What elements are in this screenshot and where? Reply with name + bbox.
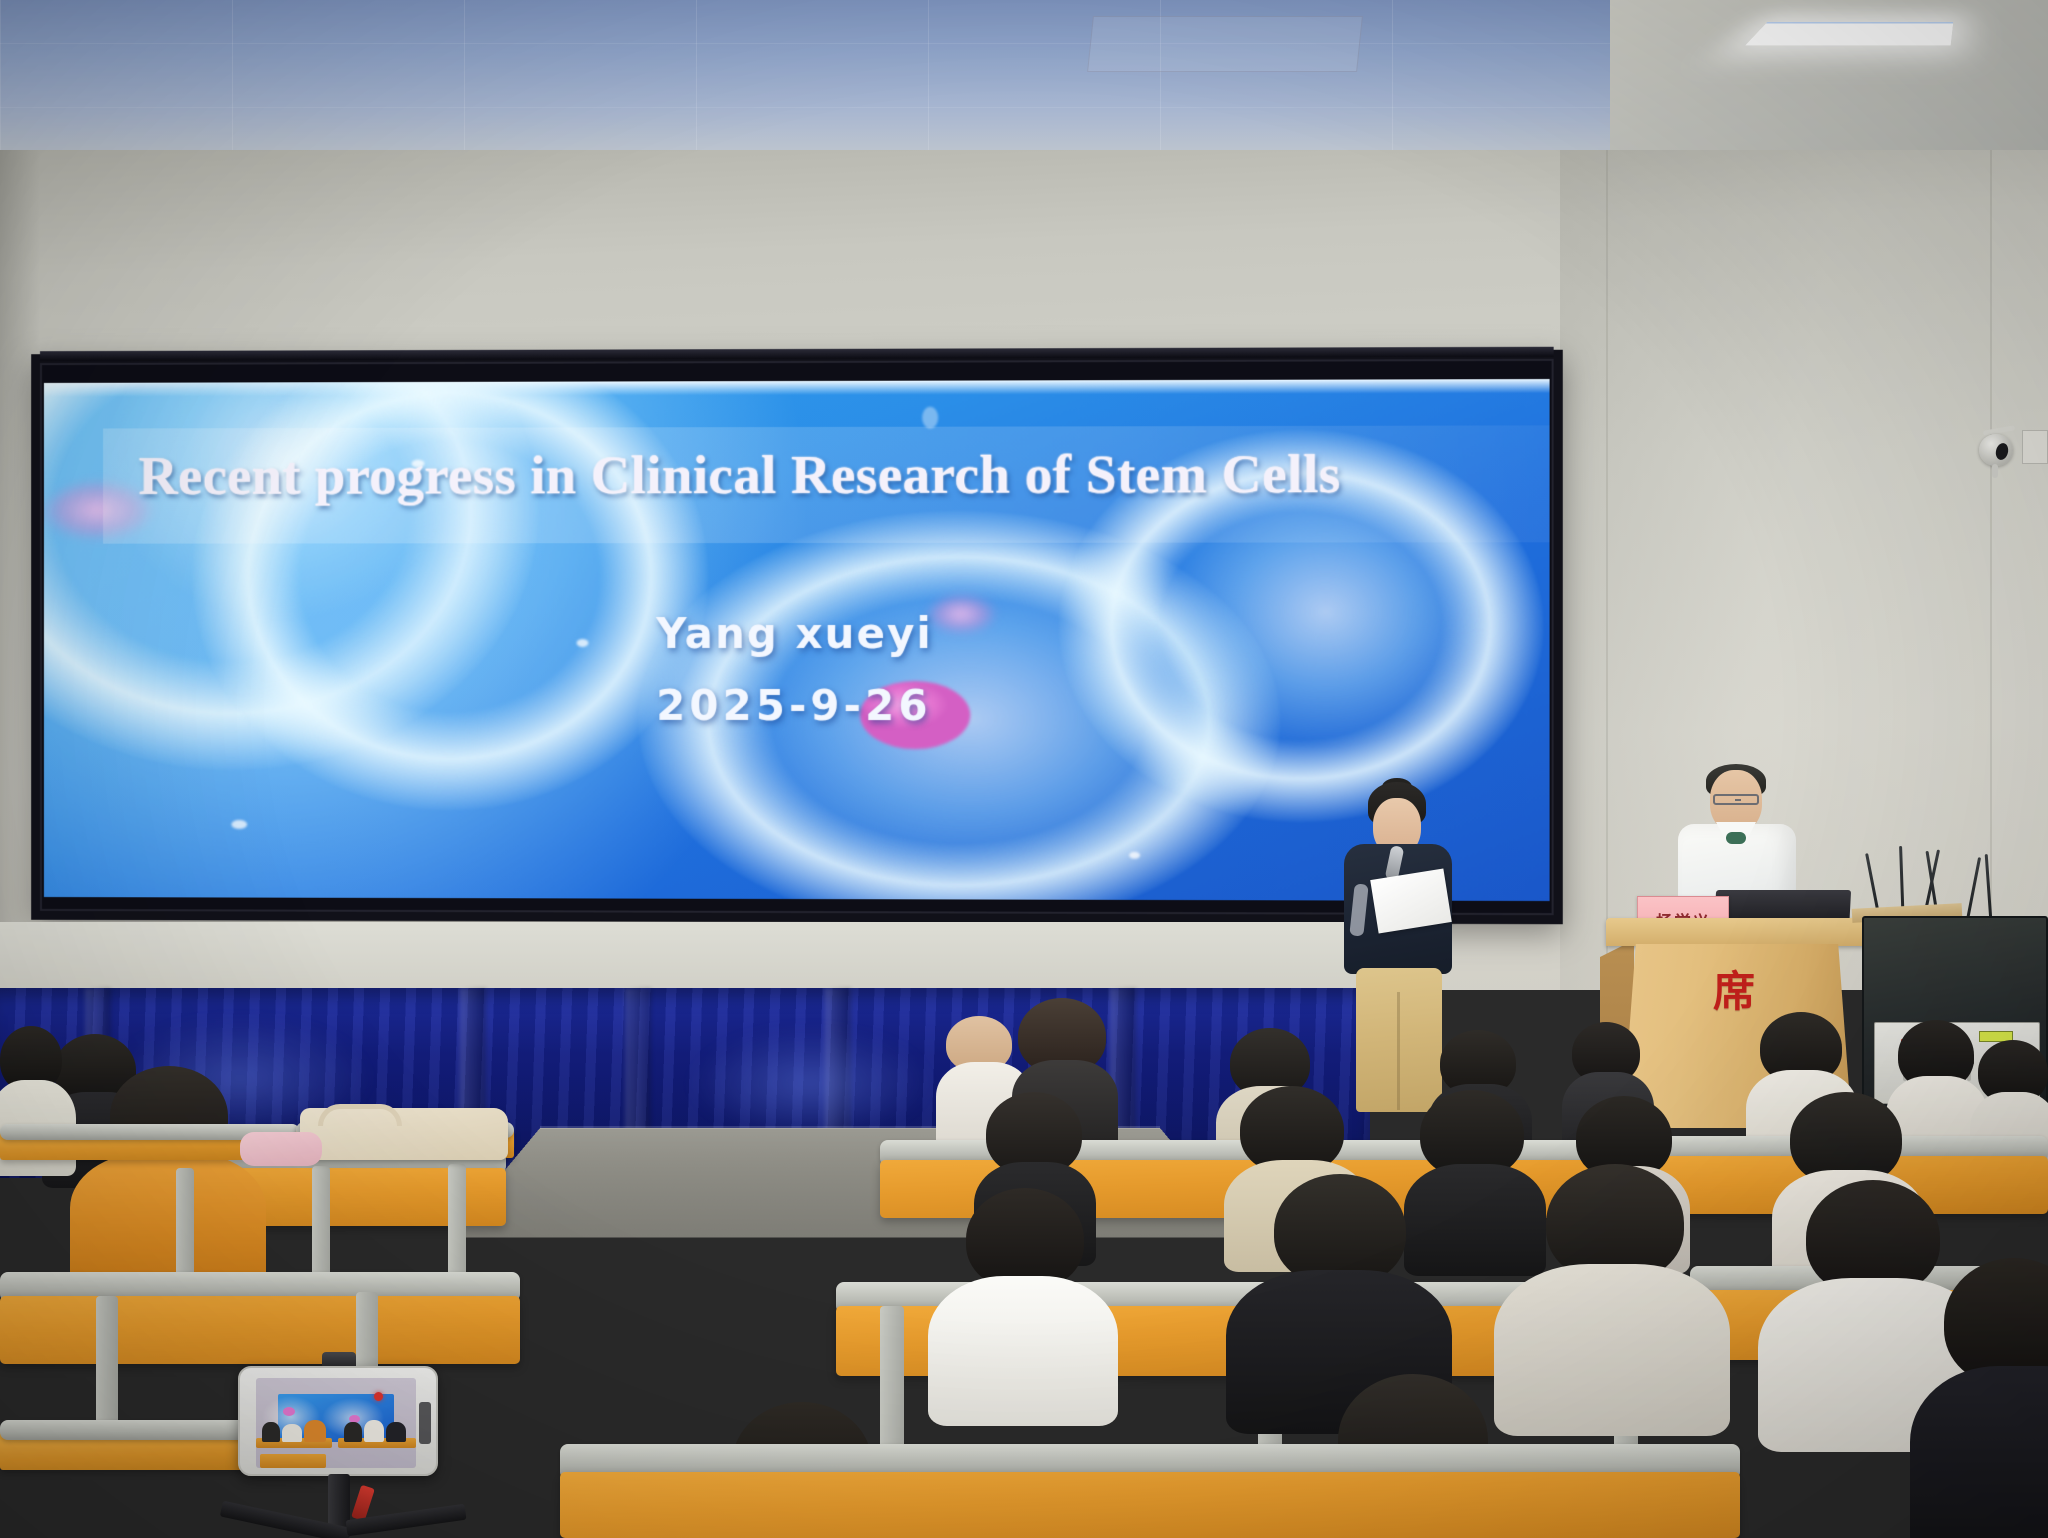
wall-shading — [1560, 150, 2048, 990]
phone-preview-person — [364, 1420, 384, 1442]
phone-preview-person — [262, 1422, 280, 1442]
camera-cable — [1992, 464, 1998, 478]
wall-seam — [1990, 150, 1992, 990]
cell-nucleus — [924, 593, 1016, 653]
ceiling-access-panel — [1087, 16, 1363, 72]
phone-preview-nucleus — [283, 1407, 295, 1416]
head — [966, 1188, 1084, 1290]
slide-author: Yang xueyi — [656, 609, 933, 658]
cell-speck — [922, 407, 938, 429]
audience-member — [1248, 1174, 1428, 1404]
pink-item-on-bench — [240, 1132, 322, 1166]
lecture-hall-photo: Recent progress in Clinical Research of … — [0, 0, 2048, 1538]
glasses-icon — [1713, 794, 1759, 805]
wall-plate — [2022, 430, 2048, 464]
phone-camera-module — [419, 1402, 431, 1444]
phone-preview-bench — [260, 1454, 326, 1468]
slide-date: 2025-9-26 — [656, 681, 931, 730]
podium-top-surface — [1606, 918, 1868, 946]
presenter-script-paper — [1370, 869, 1452, 934]
lapel-mic-icon — [1726, 832, 1746, 844]
cell-speck — [231, 820, 247, 829]
phone-preview-person — [386, 1422, 406, 1442]
audience-member — [1930, 1258, 2048, 1538]
audience-member — [946, 1188, 1096, 1398]
recording-indicator — [374, 1392, 383, 1401]
ceiling-light-panel — [1745, 22, 1953, 45]
smartphone-tripod-rig — [238, 1366, 438, 1538]
cell-speck — [577, 639, 589, 647]
body — [1494, 1264, 1730, 1436]
body — [928, 1276, 1118, 1426]
audience-member — [84, 1066, 244, 1266]
cell-speck — [1129, 852, 1140, 859]
audience-member — [1516, 1164, 1702, 1404]
audience-member — [1420, 1090, 1528, 1248]
bench-seat — [0, 1296, 520, 1364]
audience-member — [1898, 1020, 1976, 1150]
phone-preview-person — [282, 1424, 302, 1442]
podium-front-text: 席 — [1626, 958, 1850, 1019]
phone-preview-person — [344, 1422, 362, 1442]
wall-seam — [1606, 150, 1608, 990]
led-screen-frame: Recent progress in Clinical Research of … — [31, 350, 1563, 924]
phone-preview-person — [304, 1420, 326, 1442]
skirt-sheen — [690, 1028, 930, 1138]
bag-strap — [318, 1104, 402, 1126]
phone-screen[interactable] — [256, 1378, 416, 1468]
body — [70, 1152, 266, 1292]
led-screen: Recent progress in Clinical Research of … — [44, 379, 1550, 901]
smartphone[interactable] — [238, 1366, 438, 1476]
stage-front-wall — [0, 922, 1350, 996]
slide-title: Recent progress in Clinical Research of … — [139, 442, 1520, 507]
body — [1910, 1366, 2048, 1538]
bench-seat — [560, 1472, 1740, 1538]
security-camera-icon — [1975, 424, 2021, 478]
